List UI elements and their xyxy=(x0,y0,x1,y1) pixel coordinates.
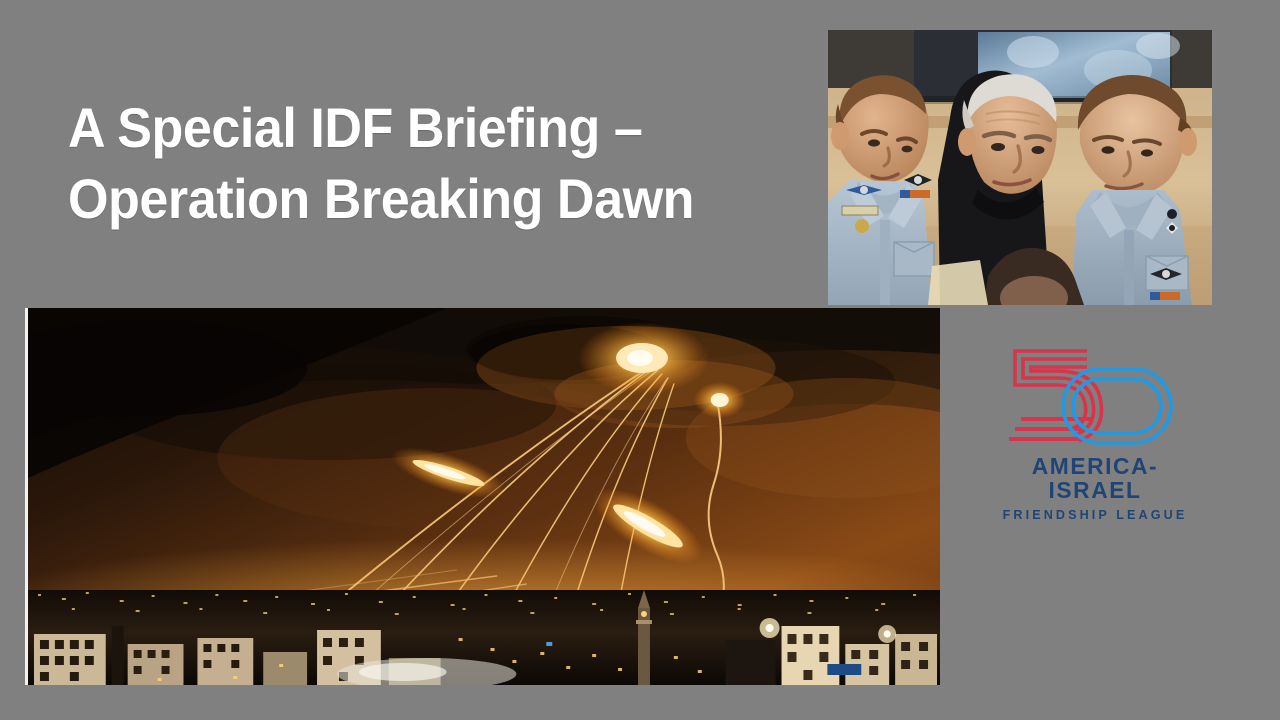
rocket-barrage-photo xyxy=(25,308,940,685)
fifty-anniversary-mark xyxy=(995,345,1195,453)
slide-title: A Special IDF Briefing – Operation Break… xyxy=(68,92,775,234)
logo-org-name: AMERICA-ISRAEL xyxy=(998,455,1192,502)
idf-briefing-photo xyxy=(828,30,1212,305)
logo-tagline: FRIENDSHIP LEAGUE xyxy=(995,509,1195,522)
presentation-slide: A Special IDF Briefing – Operation Break… xyxy=(0,0,1280,720)
america-israel-friendship-league-logo: AMERICA-ISRAEL FRIENDSHIP LEAGUE xyxy=(995,345,1195,495)
